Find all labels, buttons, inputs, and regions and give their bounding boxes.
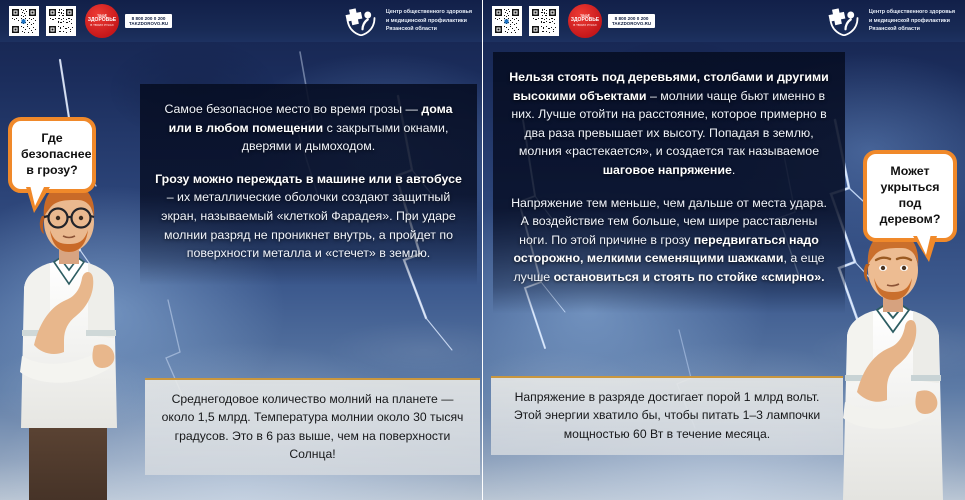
- advice-emphasis: остановиться и стоять по стойке «смирно»…: [554, 270, 825, 284]
- badge-line-3: В ТВОИХ РУКАХ: [573, 24, 596, 27]
- infographic-deck: ТВОЁ ЗДОРОВЬЕ В ТВОИХ РУКАХ 8 800 200 0 …: [0, 0, 965, 500]
- organization-block: Центр общественного здоровья и медицинск…: [343, 6, 482, 36]
- advice-text: – их металлические оболочки создают защи…: [161, 190, 456, 260]
- advice-paragraph: Напряжение тем меньше, чем дальше от мес…: [507, 194, 831, 287]
- thinking-man-with-glasses-icon: [0, 170, 144, 500]
- thinking-man-icon: [819, 220, 965, 500]
- org-line-1: Центр общественного здоровья: [386, 8, 472, 16]
- question-bubble-text: Может укрыться под деревом?: [880, 164, 941, 226]
- badge-line-3: В ТВОИХ РУКАХ: [90, 24, 113, 27]
- person-illustration: [819, 220, 965, 500]
- question-bubble[interactable]: Может укрыться под деревом?: [863, 150, 957, 242]
- health-center-logo-icon: [826, 6, 862, 36]
- slide-divider: [482, 0, 483, 500]
- organization-block: Центр общественного здоровья и медицинск…: [826, 6, 965, 36]
- advice-paragraph: Грозу можно переждать в машине или в авт…: [154, 170, 463, 263]
- slide-trees: ТВОЁ ЗДОРОВЬЕ В ТВОИХ РУКАХ 8 800 200 0 …: [483, 0, 965, 500]
- takzdorovo-badge[interactable]: ТВОЁ ЗДОРОВЬЕ В ТВОИХ РУКАХ: [568, 4, 602, 38]
- question-bubble-text: Где безопаснее в грозу?: [21, 131, 92, 177]
- org-line-2: и медицинской профилактики: [386, 17, 472, 25]
- advice-text: .: [732, 163, 735, 177]
- contact-plate[interactable]: 8 800 200 0 200 TAKZDOROVO.RU: [125, 14, 172, 29]
- advice-paragraph: Нельзя стоять под деревьями, столбами и …: [507, 68, 831, 180]
- org-line-3: Рязанской области: [386, 25, 472, 33]
- advice-panel: Самое безопасное место во время грозы — …: [140, 84, 477, 285]
- fact-box: Напряжение в разряде достигает порой 1 м…: [491, 376, 843, 455]
- health-center-logo-icon: [343, 6, 379, 36]
- org-line-2: и медицинской профилактики: [869, 17, 955, 25]
- advice-text: Самое безопасное место во время грозы —: [164, 102, 421, 116]
- organization-name: Центр общественного здоровья и медицинск…: [386, 8, 472, 33]
- slide-safe-place: ТВОЁ ЗДОРОВЬЕ В ТВОИХ РУКАХ 8 800 200 0 …: [0, 0, 482, 500]
- organization-name: Центр общественного здоровья и медицинск…: [869, 8, 955, 33]
- takzdorovo-badge[interactable]: ТВОЁ ЗДОРОВЬЕ В ТВОИХ РУКАХ: [85, 4, 119, 38]
- advice-emphasis: шаговое напряжение: [603, 163, 732, 177]
- header-bar: ТВОЁ ЗДОРОВЬЕ В ТВОИХ РУКАХ 8 800 200 0 …: [0, 0, 482, 42]
- org-line-3: Рязанской области: [869, 25, 955, 33]
- website-url: TAKZDOROVO.RU: [612, 21, 651, 26]
- qr-code-icon[interactable]: [9, 6, 39, 36]
- advice-panel: Нельзя стоять под деревьями, столбами и …: [493, 52, 845, 313]
- website-url: TAKZDOROVO.RU: [129, 21, 168, 26]
- bubble-tail-icon: [26, 187, 50, 213]
- fact-box: Среднегодовое количество молний на плане…: [145, 378, 480, 475]
- header-bar: ТВОЁ ЗДОРОВЬЕ В ТВОИХ РУКАХ 8 800 200 0 …: [483, 0, 965, 42]
- qr-code-icon[interactable]: [529, 6, 559, 36]
- qr-code-icon[interactable]: [492, 6, 522, 36]
- advice-paragraph: Самое безопасное место во время грозы — …: [154, 100, 463, 156]
- person-illustration: [0, 170, 144, 500]
- contact-plate[interactable]: 8 800 200 0 200 TAKZDOROVO.RU: [608, 14, 655, 29]
- qr-code-icon[interactable]: [46, 6, 76, 36]
- advice-emphasis: Грозу можно переждать в машине или в авт…: [155, 172, 462, 186]
- question-bubble[interactable]: Где безопаснее в грозу?: [8, 117, 96, 193]
- bubble-tail-icon: [913, 236, 937, 262]
- org-line-1: Центр общественного здоровья: [869, 8, 955, 16]
